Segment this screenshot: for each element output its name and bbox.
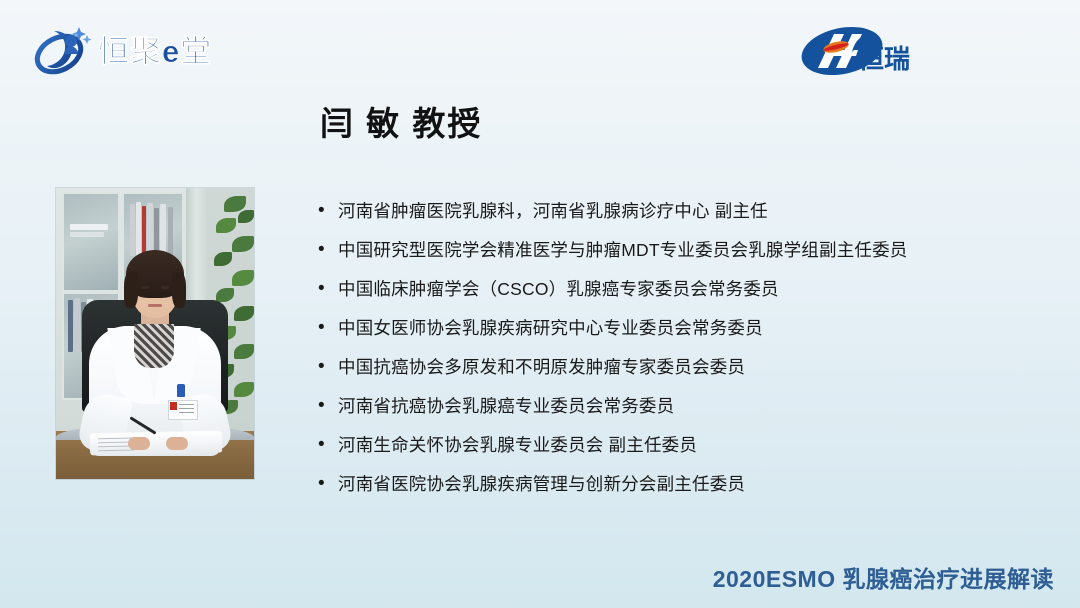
- list-item: • 中国临床肿瘤学会（CSCO）乳腺癌专家委员会常务委员: [318, 276, 1018, 315]
- bullet-icon: •: [318, 315, 338, 341]
- doctor-portrait-photo: [56, 188, 254, 479]
- list-item-text: 中国抗癌协会多原发和不明原发肿瘤专家委员会委员: [338, 354, 745, 380]
- brand-wordmark: 恒聚e堂: [98, 36, 212, 67]
- bullet-icon: •: [318, 393, 338, 419]
- list-item-text: 中国研究型医院学会精准医学与肿瘤MDT专业委员会乳腺学组副主任委员: [338, 237, 908, 263]
- list-item: • 中国女医师协会乳腺疾病研究中心专业委员会常务委员: [318, 315, 1018, 354]
- bullet-icon: •: [318, 276, 338, 302]
- list-item-text: 河南省抗癌协会乳腺癌专业委员会常务委员: [338, 393, 674, 419]
- bullet-icon: •: [318, 237, 338, 263]
- bio-list: • 河南省肿瘤医院乳腺科，河南省乳腺病诊疗中心 副主任 • 中国研究型医院学会精…: [318, 198, 1018, 510]
- bullet-icon: •: [318, 471, 338, 497]
- page-title: 闫 敏 教授: [320, 97, 482, 145]
- brand-swoosh-icon: [32, 21, 94, 81]
- slide-canvas: 恒聚e堂 恒瑞 闫 敏 教授: [0, 0, 1080, 608]
- list-item-text: 河南省肿瘤医院乳腺科，河南省乳腺病诊疗中心 副主任: [338, 198, 768, 224]
- list-item: • 中国抗癌协会多原发和不明原发肿瘤专家委员会委员: [318, 354, 1018, 393]
- list-item: • 河南生命关怀协会乳腺专业委员会 副主任委员: [318, 432, 1018, 471]
- list-item-text: 中国女医师协会乳腺疾病研究中心专业委员会常务委员: [338, 315, 763, 341]
- brand-logo: 恒聚e堂: [32, 18, 262, 84]
- footer-title: 2020ESMO 乳腺癌治疗进展解读: [713, 560, 1054, 594]
- list-item: • 中国研究型医院学会精准医学与肿瘤MDT专业委员会乳腺学组副主任委员: [318, 237, 1018, 276]
- list-item: • 河南省医院协会乳腺疾病管理与创新分会副主任委员: [318, 471, 1018, 510]
- list-item-text: 河南生命关怀协会乳腺专业委员会 副主任委员: [338, 432, 697, 458]
- partner-wordmark: 恒瑞: [858, 46, 910, 72]
- bullet-icon: •: [318, 432, 338, 458]
- list-item-text: 中国临床肿瘤学会（CSCO）乳腺癌专家委员会常务委员: [338, 276, 779, 302]
- list-item: • 河南省肿瘤医院乳腺科，河南省乳腺病诊疗中心 副主任: [318, 198, 1018, 237]
- bullet-icon: •: [318, 198, 338, 224]
- partner-logo: 恒瑞: [800, 22, 1000, 84]
- bullet-icon: •: [318, 354, 338, 380]
- list-item-text: 河南省医院协会乳腺疾病管理与创新分会副主任委员: [338, 471, 745, 497]
- list-item: • 河南省抗癌协会乳腺癌专业委员会常务委员: [318, 393, 1018, 432]
